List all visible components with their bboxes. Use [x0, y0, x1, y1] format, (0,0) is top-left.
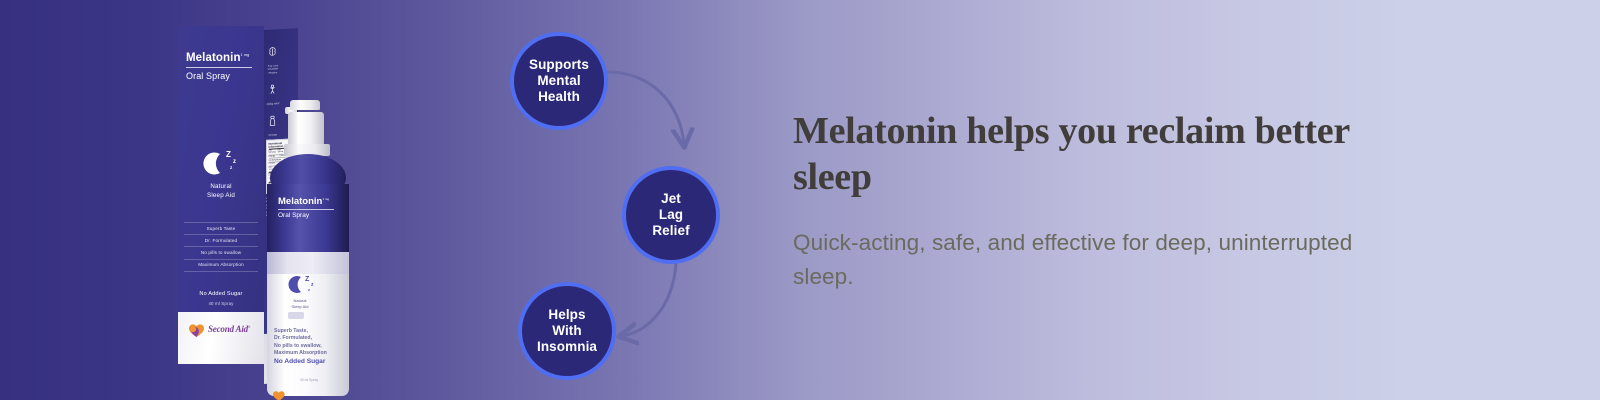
natural-line-1: Sleep Aid	[182, 191, 260, 200]
carton-bullet: No pills to swallow	[184, 247, 258, 259]
carton-divider	[186, 67, 252, 68]
no-sugar-text: No Added Sugar	[182, 290, 260, 299]
bottle-bullet: No pills to swallow,	[274, 343, 344, 350]
bottle-shoulder	[270, 154, 346, 188]
carton-brand-logo: Second Aid®	[188, 322, 254, 340]
svg-text:z: z	[233, 159, 236, 165]
moon-zzz-icon: Z z z	[200, 146, 244, 180]
benefits-flow-diagram: Supports Mental Health Jet Lag Relief He…	[500, 14, 790, 386]
spray-pump-head	[288, 112, 324, 146]
node1-line-1: Mental	[529, 73, 589, 89]
bottle-moon-zzz-icon: Z z z	[286, 272, 320, 298]
node3-line-0: Helps	[537, 307, 597, 323]
bottle-brand-logo	[272, 388, 318, 400]
bottle-bullet: Dr. Formulated,	[274, 335, 344, 342]
svg-text:Z: Z	[226, 150, 231, 159]
bottle-bullet: Maximum Absorption	[274, 350, 344, 357]
carton-bullet: Dr. Formulated	[184, 235, 258, 247]
banner-copy-block: Melatonin helps you reclaim better sleep…	[793, 108, 1413, 294]
node3-line-2: Insomnia	[537, 339, 597, 355]
carton-product-title: Melatonin1 mg	[186, 52, 258, 64]
carton-benefit-list: Superb Taste Dr. Formulated No pills to …	[184, 222, 258, 272]
carton-natural-sleep-aid: Natural Sleep Aid	[182, 182, 260, 200]
heart-swirl-icon	[188, 322, 205, 338]
bottle-badge	[288, 312, 304, 319]
benefit-node-supports-mental-health[interactable]: Supports Mental Health	[510, 32, 608, 130]
bottle-benefit-list: Superb Taste, Dr. Formulated, No pills t…	[274, 328, 344, 358]
promotional-banner: Fog Loss Circadian Rhythm Jetlag relief	[0, 0, 1600, 400]
spray-trigger-top	[290, 100, 320, 110]
brain-icon: Fog Loss Circadian Rhythm	[266, 45, 279, 75]
node2-label: Jet Lag Relief	[652, 191, 689, 239]
arrow-node1-to-node2	[608, 72, 684, 144]
carton-front-panel: Melatonin1 mg Oral Spray Z z z Natural S…	[178, 26, 264, 364]
product-image-group: Fog Loss Circadian Rhythm Jetlag relief	[170, 18, 400, 378]
bottle-natural-sleep-aid: Natural Sleep Aid	[272, 298, 328, 309]
svg-text:z: z	[308, 287, 310, 292]
icon-caption: Fog Loss Circadian Rhythm	[266, 64, 279, 75]
natural-line-0: Natural	[182, 182, 260, 191]
benefit-node-helps-with-insomnia[interactable]: Helps With Insomnia	[518, 282, 616, 380]
product-spray-bottle: Melatonin1 mg Oral Spray Z z z Natural S…	[262, 100, 354, 396]
bottle-dose: 1 mg	[322, 197, 329, 201]
brand-logo-text: Second Aid®	[208, 324, 250, 334]
bottle-label-band	[267, 252, 349, 274]
bottle-product-title: Melatonin1 mg	[278, 196, 342, 207]
benefit-node-jet-lag-relief[interactable]: Jet Lag Relief	[622, 166, 720, 264]
node1-line-0: Supports	[529, 57, 589, 73]
svg-text:Z: Z	[305, 276, 310, 283]
bottle-divider	[278, 209, 334, 210]
brand-name: Second Aid	[208, 324, 248, 334]
banner-subtitle: Quick-acting, safe, and effective for de…	[793, 226, 1413, 294]
bottle-volume: 40 ml Spray	[274, 378, 344, 382]
node3-line-1: With	[537, 323, 597, 339]
bottle-subtitle: Oral Spray	[278, 212, 309, 219]
carton-bullet: Maximum Absorption	[184, 260, 258, 272]
carton-dose: 1 mg	[241, 53, 250, 57]
node1-label: Supports Mental Health	[529, 57, 589, 105]
carton-volume: 40 ml Spray	[182, 299, 260, 308]
page-title: Melatonin helps you reclaim better sleep	[793, 108, 1413, 200]
svg-text:z: z	[230, 165, 233, 170]
carton-bullet: Superb Taste	[184, 222, 258, 235]
product-carton: Fog Loss Circadian Rhythm Jetlag relief	[178, 26, 264, 384]
node2-line-1: Lag	[652, 207, 689, 223]
node2-line-2: Relief	[652, 223, 689, 239]
bottle-natural-line-1: Sleep Aid	[272, 304, 328, 310]
bottle-bullet: Superb Taste,	[274, 328, 344, 335]
carton-title-text: Melatonin	[186, 52, 241, 64]
svg-text:z: z	[311, 282, 314, 288]
arrow-node2-to-node3	[622, 264, 676, 336]
carton-no-sugar-claim: No Added Sugar 40 ml Spray	[182, 290, 260, 308]
node2-line-0: Jet	[652, 191, 689, 207]
node1-line-2: Health	[529, 89, 589, 105]
brand-trademark: ®	[248, 325, 250, 329]
bottle-title-text: Melatonin	[278, 196, 322, 207]
node3-label: Helps With Insomnia	[537, 307, 597, 355]
carton-subtitle: Oral Spray	[186, 71, 258, 81]
bottle-no-sugar-claim: No Added Sugar	[274, 358, 344, 365]
